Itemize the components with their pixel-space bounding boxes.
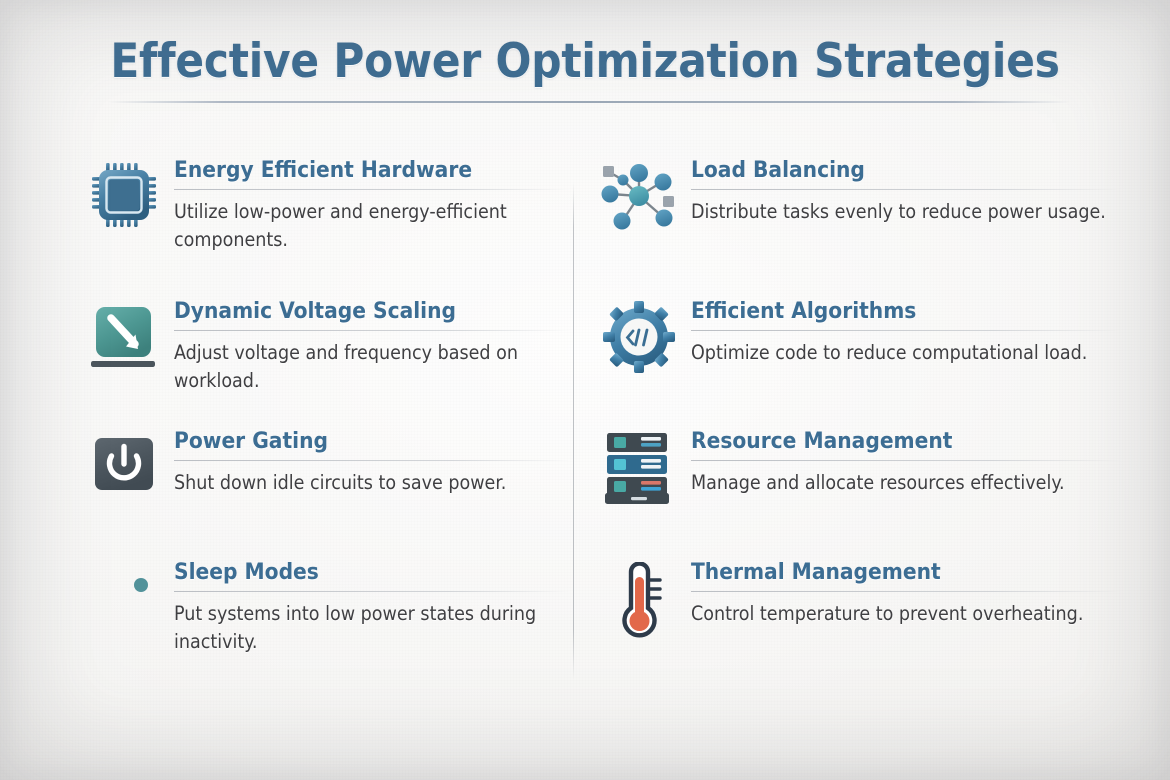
strategy-item-energy-efficient-hardware[interactable]: Energy Efficient Hardware Utilize low-po… [88, 158, 570, 254]
item-description: Utilize low-power and energy-efficient c… [174, 198, 514, 253]
item-title: Resource Management [691, 429, 1121, 453]
column-divider [573, 182, 574, 680]
server-rack-icon [601, 429, 677, 505]
crescent-moon-icon [88, 560, 160, 636]
item-title: Sleep Modes [174, 560, 570, 584]
strategy-item-efficient-algorithms[interactable]: Efficient Algorithms Optimize code to re… [601, 299, 1121, 375]
strategy-item-resource-management[interactable]: Resource Management Manage and allocate … [601, 429, 1121, 505]
item-text-block: Energy Efficient Hardware Utilize low-po… [160, 158, 570, 254]
item-description: Put systems into low power states during… [174, 600, 570, 655]
item-description: Optimize code to reduce computational lo… [691, 339, 1121, 367]
item-description: Shut down idle circuits to save power. [174, 469, 570, 497]
item-title-rule [691, 591, 1121, 592]
item-title-rule [174, 460, 570, 461]
title-divider-rule [108, 101, 1070, 103]
network-hub-icon [601, 158, 677, 234]
strategy-item-thermal-management[interactable]: Thermal Management Control temperature t… [601, 560, 1121, 636]
strategy-item-load-balancing[interactable]: Load Balancing Distribute tasks evenly t… [601, 158, 1121, 234]
voltage-scaling-arrow-icon [88, 299, 160, 375]
infographic-poster: Effective Power Optimization Strategies [0, 0, 1170, 780]
gear-code-icon [601, 299, 677, 375]
item-text-block: Efficient Algorithms Optimize code to re… [677, 299, 1121, 367]
item-title: Energy Efficient Hardware [174, 158, 570, 182]
item-description: Manage and allocate resources effectivel… [691, 469, 1121, 497]
item-title: Efficient Algorithms [691, 299, 1121, 323]
item-title-rule [174, 591, 570, 592]
item-text-block: Sleep Modes Put systems into low power s… [160, 560, 570, 656]
item-text-block: Power Gating Shut down idle circuits to … [160, 429, 570, 497]
item-text-block: Thermal Management Control temperature t… [677, 560, 1121, 628]
item-title: Thermal Management [691, 560, 1121, 584]
strategy-item-sleep-modes[interactable]: Sleep Modes Put systems into low power s… [88, 560, 570, 656]
item-title-rule [691, 330, 1121, 331]
strategy-item-dynamic-voltage-scaling[interactable]: Dynamic Voltage Scaling Adjust voltage a… [88, 299, 570, 395]
item-title: Power Gating [174, 429, 570, 453]
item-title: Dynamic Voltage Scaling [174, 299, 570, 323]
power-button-icon [88, 429, 160, 505]
item-text-block: Load Balancing Distribute tasks evenly t… [677, 158, 1121, 226]
item-title-rule [174, 189, 570, 190]
page-title: Effective Power Optimization Strategies [0, 34, 1170, 89]
item-title-rule [691, 189, 1121, 190]
item-text-block: Dynamic Voltage Scaling Adjust voltage a… [160, 299, 570, 395]
item-description: Adjust voltage and frequency based on wo… [174, 339, 570, 394]
item-title: Load Balancing [691, 158, 1121, 182]
item-title-rule [174, 330, 570, 331]
thermometer-icon [601, 560, 677, 636]
item-description: Distribute tasks evenly to reduce power … [691, 198, 1121, 226]
item-text-block: Resource Management Manage and allocate … [677, 429, 1121, 497]
strategy-item-power-gating[interactable]: Power Gating Shut down idle circuits to … [88, 429, 570, 505]
item-description: Control temperature to prevent overheati… [691, 600, 1121, 628]
cpu-chip-icon [88, 158, 160, 234]
item-title-rule [691, 460, 1121, 461]
